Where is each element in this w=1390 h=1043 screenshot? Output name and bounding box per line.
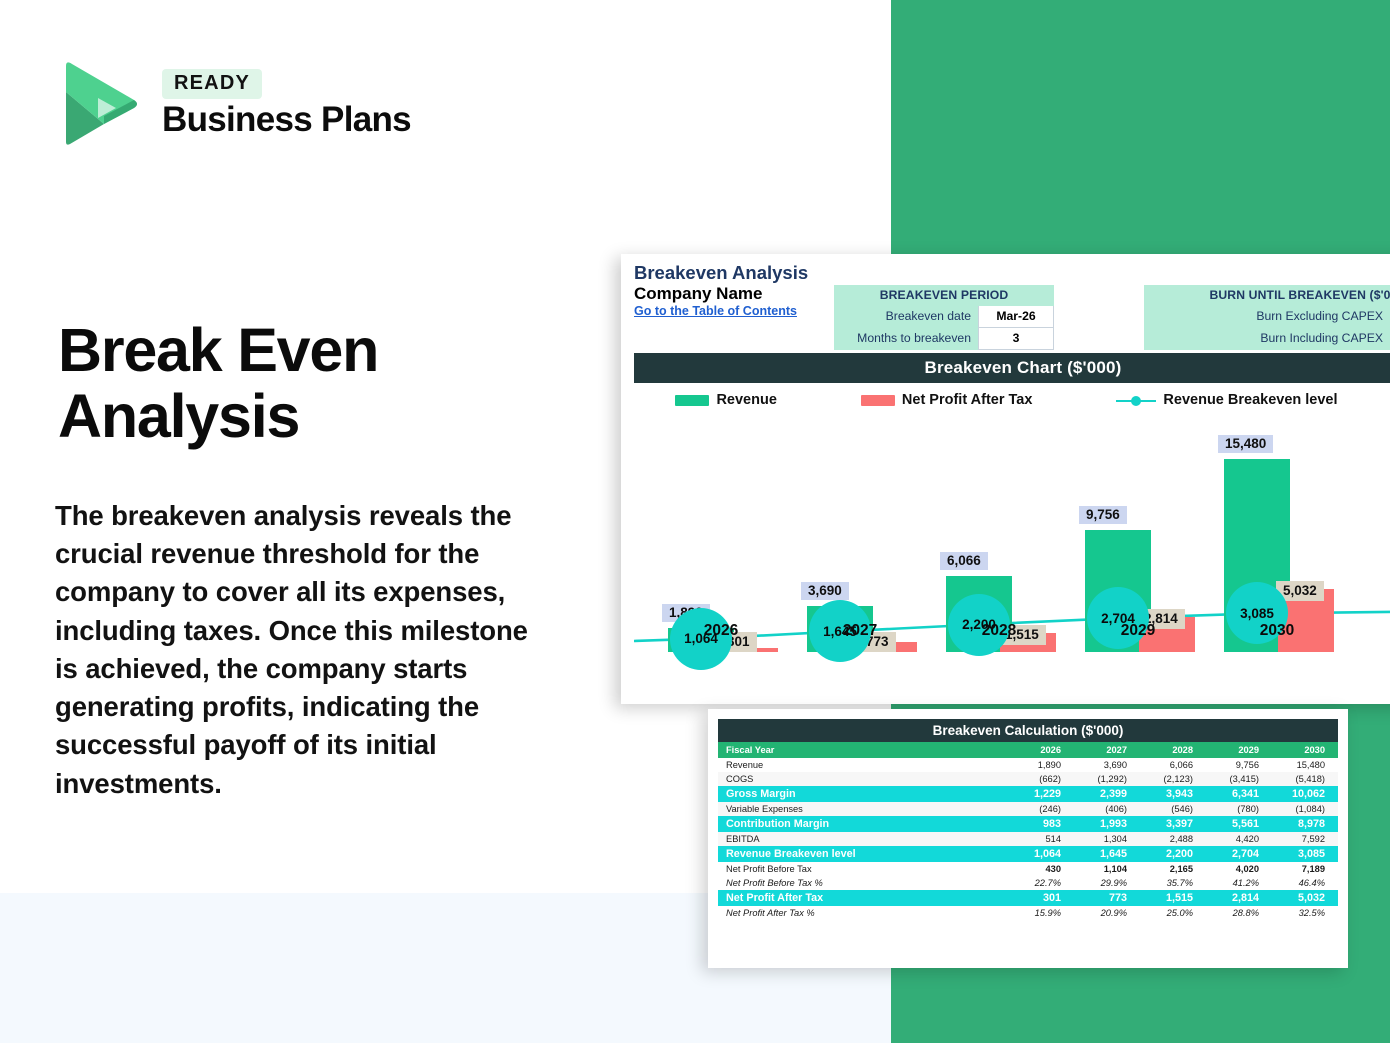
table-cell-2029: (780): [1206, 802, 1272, 816]
page-body-text: The breakeven analysis reveals the cruci…: [55, 497, 555, 803]
table-row: Net Profit Before Tax %22.7%29.9%35.7%41…: [718, 876, 1338, 890]
table-cell-2028: 2,165: [1140, 862, 1206, 876]
legend-item-revenue-breakeven-level[interactable]: Revenue Breakeven level: [1116, 392, 1337, 408]
breakeven-chart-card: Breakeven Analysis Company Name Go to th…: [621, 254, 1390, 704]
table-cell-2027: 1,304: [1074, 832, 1140, 846]
x-axis-label-2029: 2029: [1071, 622, 1205, 640]
table-cell-2027: 773: [1074, 890, 1140, 906]
table-cell-2029: 28.8%: [1206, 906, 1272, 920]
table-of-contents-link[interactable]: Go to the Table of Contents: [634, 304, 808, 318]
table-cell-2029: 2,814: [1206, 890, 1272, 906]
table-cell-2030: 3,085: [1272, 846, 1338, 862]
table-cell-2026: 1,890: [1008, 758, 1074, 772]
table-cell-2027: 2,399: [1074, 786, 1140, 802]
breakeven-date-label: Breakeven date: [834, 306, 978, 328]
table-cell-2029: 4,420: [1206, 832, 1272, 846]
x-axis-label-2027: 2027: [793, 622, 927, 640]
table-row: Net Profit Before Tax4301,1042,1654,0207…: [718, 862, 1338, 876]
table-cell-2027: 1,104: [1074, 862, 1140, 876]
table-cell-2030: (5,418): [1272, 772, 1338, 786]
table-cell-2028: (546): [1140, 802, 1206, 816]
table-cell-2029: 4,020: [1206, 862, 1272, 876]
table-row-label: Net Profit After Tax: [718, 890, 1008, 906]
table-cell-2030: 46.4%: [1272, 876, 1338, 890]
kpi-row: Burn Excluding CAPEX (11.0): [1144, 306, 1390, 328]
table-cell-2029: (3,415): [1206, 772, 1272, 786]
table-col-header-2026: 2026: [1008, 742, 1074, 758]
table-row: Contribution Margin9831,9933,3975,5618,9…: [718, 816, 1338, 832]
play-triangle-logo-icon: [58, 58, 144, 146]
table-cell-2030: 8,978: [1272, 816, 1338, 832]
table-cell-2026: 1,229: [1008, 786, 1074, 802]
table-cell-2029: 9,756: [1206, 758, 1272, 772]
table-cell-2029: 5,561: [1206, 816, 1272, 832]
table-cell-2030: 7,592: [1272, 832, 1338, 846]
table-cell-2030: 32.5%: [1272, 906, 1338, 920]
breakeven-date-value[interactable]: Mar-26: [978, 306, 1054, 328]
table-row: Gross Margin1,2292,3993,9436,34110,062: [718, 786, 1338, 802]
kpi-row: Months to breakeven 3: [834, 328, 1054, 350]
table-row: EBITDA5141,3042,4884,4207,592: [718, 832, 1338, 846]
table-cell-2026: 22.7%: [1008, 876, 1074, 890]
burn-until-breakeven-header: BURN UNTIL BREAKEVEN ($'000): [1144, 285, 1390, 306]
table-cell-2027: (1,292): [1074, 772, 1140, 786]
legend-item-net-profit-after-tax[interactable]: Net Profit After Tax: [861, 392, 1033, 408]
months-to-breakeven-label: Months to breakeven: [834, 328, 978, 350]
brand-name: Business Plans: [162, 102, 411, 139]
table-cell-2029: 6,341: [1206, 786, 1272, 802]
legend-swatch-revenue: [675, 395, 709, 406]
table-cell-2028: 3,943: [1140, 786, 1206, 802]
table-cell-2026: 15.9%: [1008, 906, 1074, 920]
legend-item-revenue[interactable]: Revenue: [675, 392, 776, 408]
burn-including-capex-label: Burn Including CAPEX: [1144, 328, 1390, 350]
chart-title: Breakeven Chart ($'000): [634, 353, 1390, 383]
table-row-label: Contribution Margin: [718, 816, 1008, 832]
x-axis-label-2028: 2028: [932, 622, 1066, 640]
ready-badge: READY: [162, 69, 262, 99]
kpi-row: Breakeven date Mar-26: [834, 306, 1054, 328]
brand-lockup: READY Business Plans: [58, 58, 411, 146]
x-axis-label-2026: 2026: [654, 622, 788, 640]
value-label-revenue-2030: 15,480: [1218, 435, 1273, 453]
table-col-header-2030: 2030: [1272, 742, 1338, 758]
table-col-header-2028: 2028: [1140, 742, 1206, 758]
sheet-header: Breakeven Analysis Company Name Go to th…: [634, 262, 808, 318]
burn-excluding-capex-label: Burn Excluding CAPEX: [1144, 306, 1390, 328]
table-cell-2026: 430: [1008, 862, 1074, 876]
table-row-label: Net Profit Before Tax %: [718, 876, 1008, 890]
table-title: Breakeven Calculation ($'000): [718, 719, 1338, 742]
brand-text: READY Business Plans: [162, 65, 411, 139]
table-cell-2026: (246): [1008, 802, 1074, 816]
table-row-label: Revenue Breakeven level: [718, 846, 1008, 862]
table-cell-2026: 514: [1008, 832, 1074, 846]
table-cell-2028: 35.7%: [1140, 876, 1206, 890]
table-cell-2030: (1,084): [1272, 802, 1338, 816]
table-cell-2028: 6,066: [1140, 758, 1206, 772]
table-row-label: Variable Expenses: [718, 802, 1008, 816]
table-row: Revenue1,8903,6906,0669,75615,480: [718, 758, 1338, 772]
table-row: Revenue Breakeven level1,0641,6452,2002,…: [718, 846, 1338, 862]
table-body: Revenue1,8903,6906,0669,75615,480COGS(66…: [718, 758, 1338, 920]
table-cell-2027: 20.9%: [1074, 906, 1140, 920]
breakeven-calculation-card: Breakeven Calculation ($'000) Fiscal Yea…: [708, 709, 1348, 968]
table-cell-2028: 3,397: [1140, 816, 1206, 832]
table-cell-2028: 25.0%: [1140, 906, 1206, 920]
background-top-green: [891, 0, 1390, 256]
table-row-label: Net Profit Before Tax: [718, 862, 1008, 876]
burn-until-breakeven-box: BURN UNTIL BREAKEVEN ($'000) Burn Exclud…: [1144, 285, 1390, 350]
legend-swatch-net-profit-after-tax: [861, 395, 895, 406]
kpi-row: Burn Including CAPEX (48.5): [1144, 328, 1390, 350]
table-cell-2028: 2,488: [1140, 832, 1206, 846]
table-cell-2029: 2,704: [1206, 846, 1272, 862]
table-row-label: Net Profit After Tax %: [718, 906, 1008, 920]
table-cell-2027: 1,993: [1074, 816, 1140, 832]
chart-plot-area: 1,8903011,06420263,6907731,64520276,0661…: [634, 419, 1390, 704]
table-cell-2030: 15,480: [1272, 758, 1338, 772]
table-col-header-fiscal-year: Fiscal Year: [718, 742, 1008, 758]
table-cell-2028: (2,123): [1140, 772, 1206, 786]
value-label-revenue-2029: 9,756: [1079, 506, 1127, 524]
legend-label-revenue-breakeven-level: Revenue Breakeven level: [1163, 392, 1337, 408]
breakeven-calculation-table: Fiscal Year20262027202820292030 Revenue1…: [718, 742, 1338, 920]
table-cell-2027: 3,690: [1074, 758, 1140, 772]
legend-label-revenue: Revenue: [716, 392, 776, 408]
breakeven-period-box: BREAKEVEN PERIOD Breakeven date Mar-26 M…: [834, 285, 1054, 350]
table-cell-2026: 301: [1008, 890, 1074, 906]
table-row-label: EBITDA: [718, 832, 1008, 846]
table-row-label: Gross Margin: [718, 786, 1008, 802]
table-cell-2028: 2,200: [1140, 846, 1206, 862]
table-col-header-2027: 2027: [1074, 742, 1140, 758]
table-cell-2029: 41.2%: [1206, 876, 1272, 890]
legend-marker-revenue-breakeven-level: [1116, 395, 1156, 406]
table-cell-2030: 7,189: [1272, 862, 1338, 876]
value-label-revenue-2028: 6,066: [940, 552, 988, 570]
table-cell-2027: 29.9%: [1074, 876, 1140, 890]
table-cell-2027: 1,645: [1074, 846, 1140, 862]
table-cell-2026: (662): [1008, 772, 1074, 786]
table-col-header-2029: 2029: [1206, 742, 1272, 758]
table-cell-2030: 10,062: [1272, 786, 1338, 802]
table-cell-2026: 983: [1008, 816, 1074, 832]
sheet-title: Breakeven Analysis: [634, 262, 808, 284]
breakeven-period-header: BREAKEVEN PERIOD: [834, 285, 1054, 306]
table-cell-2028: 1,515: [1140, 890, 1206, 906]
months-to-breakeven-value[interactable]: 3: [978, 328, 1054, 350]
chart-legend: Revenue Net Profit After Tax Revenue Bre…: [634, 385, 1379, 415]
table-cell-2027: (406): [1074, 802, 1140, 816]
page-title: Break EvenAnalysis: [58, 318, 578, 450]
table-row: Variable Expenses(246)(406)(546)(780)(1,…: [718, 802, 1338, 816]
table-row: COGS(662)(1,292)(2,123)(3,415)(5,418): [718, 772, 1338, 786]
value-label-revenue-2027: 3,690: [801, 582, 849, 600]
table-cell-2026: 1,064: [1008, 846, 1074, 862]
table-header-row: Fiscal Year20262027202820292030: [718, 742, 1338, 758]
x-axis-label-2030: 2030: [1210, 622, 1344, 640]
table-row-label: COGS: [718, 772, 1008, 786]
table-cell-2030: 5,032: [1272, 890, 1338, 906]
table-row-label: Revenue: [718, 758, 1008, 772]
table-row: Net Profit After Tax %15.9%20.9%25.0%28.…: [718, 906, 1338, 920]
sheet-subtitle: Company Name: [634, 284, 808, 304]
table-row: Net Profit After Tax3017731,5152,8145,03…: [718, 890, 1338, 906]
legend-label-net-profit-after-tax: Net Profit After Tax: [902, 392, 1033, 408]
